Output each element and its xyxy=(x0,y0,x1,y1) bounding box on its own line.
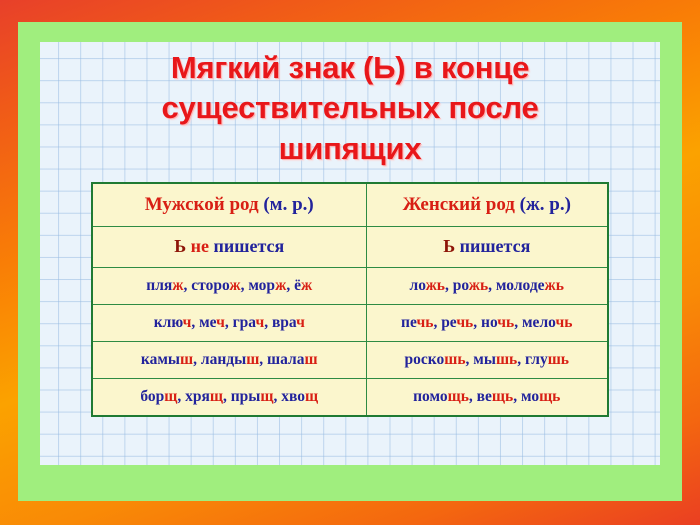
word-ending-highlight: щ xyxy=(210,388,223,405)
word-stem: ро xyxy=(453,277,469,294)
word-separator: , xyxy=(191,314,199,331)
word-separator: , xyxy=(225,314,233,331)
word-cell-masculine: камыш, ландыш, шалаш xyxy=(92,341,366,378)
word-stem: мо xyxy=(521,388,539,405)
table-row: камыш, ландыш, шалаш роскошь, мышь, глуш… xyxy=(92,341,608,378)
word-stem: пры xyxy=(231,388,261,405)
word-ending-highlight: шь xyxy=(496,351,517,368)
word-separator: , xyxy=(517,351,525,368)
word-cell-masculine: пляж, сторож, морж, ёж xyxy=(92,267,366,304)
feminine-gender-label: Женский род xyxy=(403,194,515,215)
poster-frame: Мягкий знак (Ь) в конце существительных … xyxy=(0,0,700,525)
word-ending-highlight: ш xyxy=(180,351,193,368)
word-ending-highlight: щь xyxy=(448,388,469,405)
word-stem: камы xyxy=(141,351,180,368)
word-ending-highlight: ч xyxy=(216,314,225,331)
word-separator: , xyxy=(488,277,496,294)
table-row: ключ, меч, грач, врач печь, речь, ночь, … xyxy=(92,304,608,341)
word-separator: , xyxy=(223,388,231,405)
word-ending-highlight: ш xyxy=(246,351,259,368)
word-ending-highlight: чь xyxy=(497,314,514,331)
word-separator: , xyxy=(473,314,481,331)
rule-cell-masculine: Ь не пишется xyxy=(92,226,366,267)
word-cell-feminine: роскошь, мышь, глушь xyxy=(366,341,608,378)
word-separator: , xyxy=(286,277,294,294)
word-stem: бор xyxy=(140,388,164,405)
word-separator: , xyxy=(445,277,453,294)
word-separator: , xyxy=(177,388,185,405)
word-ending-highlight: шь xyxy=(444,351,465,368)
poster-green-mat: Мягкий знак (Ь) в конце существительных … xyxy=(18,22,682,501)
rule-verb-feminine: пишется xyxy=(460,236,531,256)
word-stem: гра xyxy=(233,314,256,331)
word-stem: молоде xyxy=(496,277,545,294)
word-stem: хря xyxy=(185,388,210,405)
word-ending-highlight: ж xyxy=(301,277,312,294)
word-stem: мело xyxy=(522,314,555,331)
word-stem: ме xyxy=(199,314,216,331)
word-cell-feminine: помощь, вещь, мощь xyxy=(366,378,608,416)
word-ending-highlight: шь xyxy=(548,351,569,368)
word-stem: ве xyxy=(477,388,492,405)
word-separator: , xyxy=(513,388,521,405)
word-stem: ё xyxy=(294,277,301,294)
word-stem: помо xyxy=(413,388,448,405)
masculine-gender-abbr: (м. р.) xyxy=(263,194,313,215)
word-separator: , xyxy=(264,314,272,331)
word-ending-highlight: жь xyxy=(426,277,445,294)
word-stem: сторо xyxy=(191,277,229,294)
word-cell-masculine: ключ, меч, грач, врач xyxy=(92,304,366,341)
word-ending-highlight: чь xyxy=(456,314,473,331)
word-ending-highlight: ч xyxy=(255,314,264,331)
word-stem: мор xyxy=(248,277,275,294)
word-ending-highlight: щ xyxy=(260,388,273,405)
word-stem: пля xyxy=(146,277,172,294)
word-stem: шала xyxy=(267,351,304,368)
rule-verb-masculine: пишется xyxy=(214,236,285,256)
feminine-gender-abbr: (ж. р.) xyxy=(520,194,571,215)
word-ending-highlight: ж xyxy=(172,277,183,294)
word-separator: , xyxy=(193,351,201,368)
word-stem: ре xyxy=(441,314,456,331)
word-stem: пе xyxy=(401,314,416,331)
word-ending-highlight: чь xyxy=(555,314,572,331)
word-stem: глу xyxy=(525,351,548,368)
word-stem: клю xyxy=(154,314,183,331)
word-ending-highlight: щ xyxy=(305,388,318,405)
graph-paper-sheet: Мягкий знак (Ь) в конце существительных … xyxy=(40,42,660,465)
word-separator: , xyxy=(514,314,522,331)
word-cell-masculine: борщ, хрящ, прыщ, хвощ xyxy=(92,378,366,416)
word-cell-feminine: печь, речь, ночь, мелочь xyxy=(366,304,608,341)
word-stem: хво xyxy=(281,388,305,405)
word-ending-highlight: щь xyxy=(492,388,513,405)
word-cell-feminine: ложь, рожь, молодежь xyxy=(366,267,608,304)
rules-table: Мужской род (м. р.) Женский род (ж. р.) … xyxy=(91,182,609,417)
word-separator: , xyxy=(469,388,477,405)
word-ending-highlight: щь xyxy=(539,388,560,405)
table-row: борщ, хрящ, прыщ, хвощ помощь, вещь, мощ… xyxy=(92,378,608,416)
page-title: Мягкий знак (Ь) в конце существительных … xyxy=(40,48,660,169)
word-stem: мы xyxy=(473,351,496,368)
rule-negation-masculine: не xyxy=(191,236,209,256)
rules-table-body: Мужской род (м. р.) Женский род (ж. р.) … xyxy=(92,183,608,416)
soft-sign-glyph-masculine: Ь xyxy=(174,236,186,256)
word-ending-highlight: ж xyxy=(229,277,240,294)
word-stem: вра xyxy=(272,314,296,331)
word-ending-highlight: чь xyxy=(416,314,433,331)
word-ending-highlight: жь xyxy=(545,277,564,294)
table-row: пляж, сторож, морж, ёж ложь, рожь, молод… xyxy=(92,267,608,304)
word-ending-highlight: ж xyxy=(275,277,286,294)
word-stem: но xyxy=(481,314,497,331)
word-stem: ланды xyxy=(201,351,246,368)
table-header-rule-row: Ь не пишется Ь пишется xyxy=(92,226,608,267)
rule-cell-feminine: Ь пишется xyxy=(366,226,608,267)
word-ending-highlight: жь xyxy=(469,277,488,294)
table-header-gender-row: Мужской род (м. р.) Женский род (ж. р.) xyxy=(92,183,608,227)
word-ending-highlight: ч xyxy=(296,314,305,331)
word-stem: ло xyxy=(410,277,426,294)
header-cell-masculine: Мужской род (м. р.) xyxy=(92,183,366,227)
word-ending-highlight: ш xyxy=(304,351,317,368)
word-ending-highlight: щ xyxy=(164,388,177,405)
header-cell-feminine: Женский род (ж. р.) xyxy=(366,183,608,227)
word-separator: , xyxy=(259,351,267,368)
masculine-gender-label: Мужской род xyxy=(145,194,259,215)
word-stem: роско xyxy=(405,351,445,368)
soft-sign-glyph-feminine: Ь xyxy=(443,236,455,256)
